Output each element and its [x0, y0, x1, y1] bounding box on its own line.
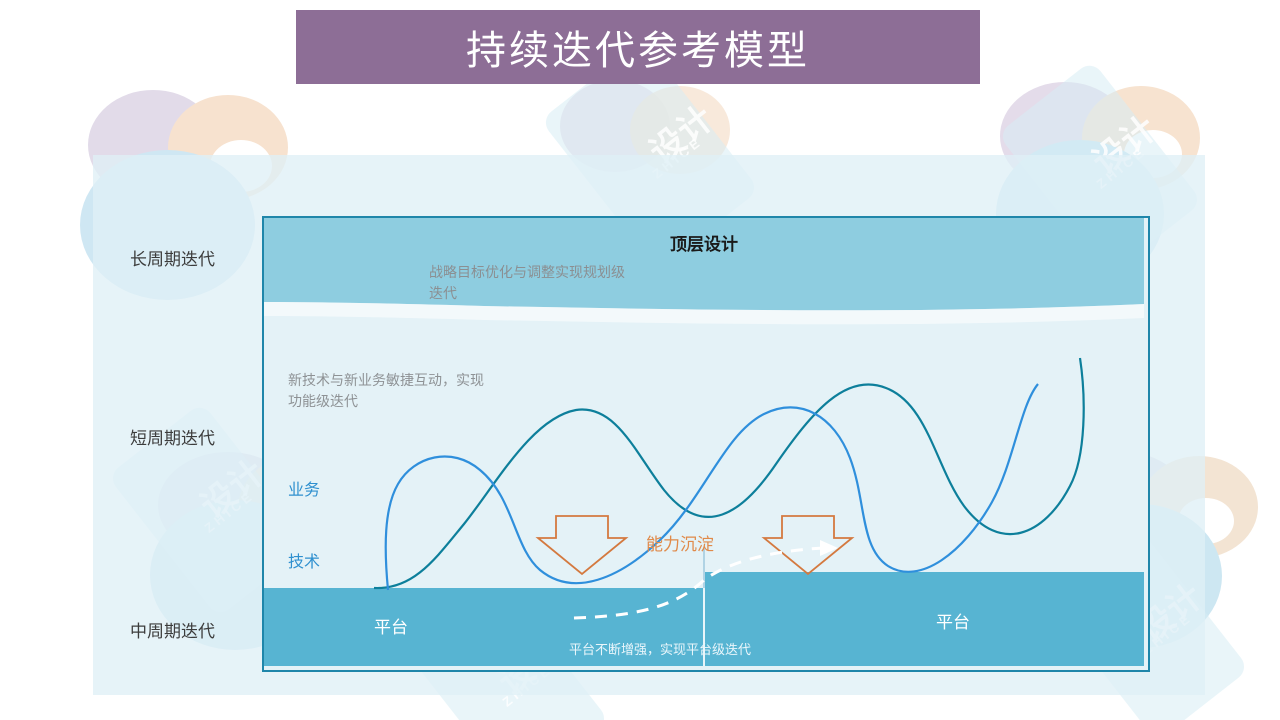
page-title: 持续迭代参考模型	[466, 18, 810, 76]
row-label-mid-cycle: 中周期迭代	[130, 617, 215, 642]
platform-label-left: 平台	[374, 613, 408, 638]
capability-precipitation-label: 能力沉淀	[646, 530, 714, 555]
platform-label-right: 平台	[936, 608, 970, 633]
dashed-growth-arrowhead-icon	[820, 540, 838, 556]
row-label-long-cycle: 长周期迭代	[130, 245, 215, 270]
diagram-graphics	[264, 218, 1144, 666]
title-banner: 持续迭代参考模型	[296, 10, 980, 84]
top-layer-description: 战略目标优化与调整实现规划级 迭代	[429, 262, 625, 304]
top-layer-title: 顶层设计	[594, 230, 814, 255]
down-arrow-left-icon	[538, 516, 626, 574]
slide-canvas: 设计 ZHICE 设计 ZHICE 设计 ZHICE 设计 ZHICE 设计 Z…	[0, 0, 1280, 720]
down-arrow-right-icon	[764, 516, 852, 574]
row-label-short-cycle: 短周期迭代	[130, 424, 215, 449]
business-curve	[386, 384, 1038, 590]
middle-layer-description: 新技术与新业务敏捷互动，实现 功能级迭代	[288, 370, 484, 412]
curve-label-technology: 技术	[288, 548, 320, 572]
curve-label-business: 业务	[288, 476, 320, 500]
iteration-model-diagram: 顶层设计 战略目标优化与调整实现规划级 迭代 新技术与新业务敏捷互动，实现 功能…	[262, 216, 1150, 672]
bottom-layer-description: 平台不断增强，实现平台级迭代	[569, 639, 751, 658]
